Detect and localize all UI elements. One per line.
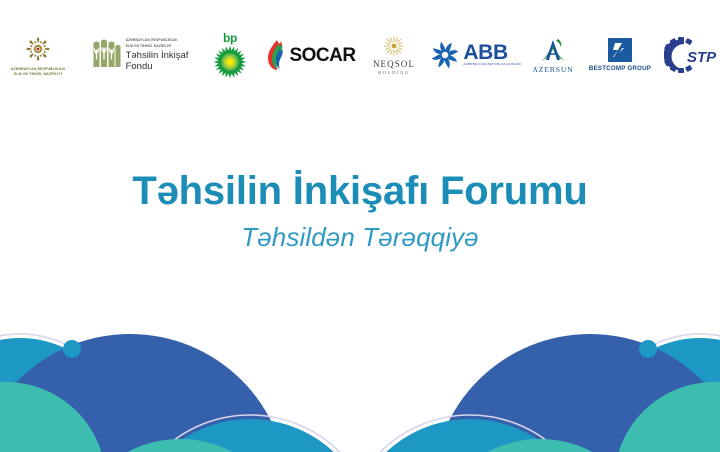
sponsor-logo-bestcomp-group: BESTCOMP GROUP (584, 37, 656, 72)
svg-text:STP: STP (687, 49, 717, 66)
sponsor-logo-stp: STP (656, 37, 720, 73)
sponsor-logo-abb-wordmark: ABB (463, 44, 507, 63)
sponsor-logo-fond-line1: AZƏRBAYCAN RESPUBLİKASI (126, 38, 189, 42)
sponsor-logo-socar: SOCAR (264, 39, 358, 71)
fond-leaf-mark-icon (92, 38, 122, 72)
sponsor-logo-bp: bp (196, 32, 264, 79)
decorative-bubble-artwork (0, 252, 720, 452)
sponsor-logo-azersun: AZERSUN (522, 36, 584, 74)
page-subtitle: Təhsildən Tərəqqiyə (0, 223, 720, 252)
decor-dot-cyan-left (63, 340, 81, 358)
sponsor-logo-bar: AZƏRBAYCAN RESPUBLİKASI ELM VƏ TƏHSİL NA… (0, 22, 720, 88)
sponsor-logo-bestcomp-wordmark: BESTCOMP GROUP (589, 66, 651, 72)
page-title: Təhsilin İnkişafı Forumu (0, 170, 720, 213)
sponsor-logo-abb-sub: AZƏRBAYCAN BEYNƏLXALQ BANKI (463, 63, 521, 66)
neqsol-sunburst-icon (383, 35, 405, 57)
decor-dot-cyan-right (639, 340, 657, 358)
sponsor-logo-neqsol-holding: NEQSOL HOLDING (358, 35, 430, 76)
sponsor-logo-abb-textblock: ABB AZƏRBAYCAN BEYNƏLXALQ BANKI (463, 44, 521, 67)
bp-helios-icon (213, 45, 247, 79)
headline-block: Təhsilin İnkişafı Forumu Təhsildən Tərəq… (0, 170, 720, 252)
sponsor-logo-azersun-wordmark: AZERSUN (532, 66, 573, 74)
sponsor-logo-ministry-line2: ELM VƏ TƏHSİL NAZİRLİYİ (14, 72, 62, 76)
sponsor-logo-socar-wordmark: SOCAR (289, 46, 355, 65)
azersun-a-mark-icon (538, 36, 568, 64)
bestcomp-square-icon (607, 37, 633, 63)
sponsor-logo-ministry-of-science-and-education: AZƏRBAYCAN RESPUBLİKASI ELM VƏ TƏHSİL NA… (0, 34, 84, 76)
abb-swirl-icon (430, 40, 460, 70)
sponsor-logo-neqsol-wordmark: NEQSOL (373, 60, 415, 69)
sponsor-logo-bp-wordmark: bp (223, 32, 237, 44)
sponsor-logo-education-development-fund: AZƏRBAYCAN RESPUBLİKASI ELM VƏ TƏHSİL NA… (84, 38, 196, 73)
sponsor-logo-abb: ABB AZƏRBAYCAN BEYNƏLXALQ BANKI (430, 40, 522, 70)
sponsor-logo-fond-line2: ELM VƏ TƏHSİL NAZİRLİYİ (126, 44, 189, 48)
sponsor-logo-neqsol-sub: HOLDING (378, 71, 410, 76)
sponsor-logo-fond-textblock: AZƏRBAYCAN RESPUBLİKASI ELM VƏ TƏHSİL NA… (126, 38, 189, 73)
azerbaijan-state-emblem-icon (23, 34, 53, 64)
sponsor-logo-fond-name-line2: Fondu (126, 62, 189, 73)
stp-gear-icon: STP (664, 37, 720, 73)
forum-poster: AZƏRBAYCAN RESPUBLİKASI ELM VƏ TƏHSİL NA… (0, 0, 720, 452)
socar-flame-icon (266, 39, 286, 71)
